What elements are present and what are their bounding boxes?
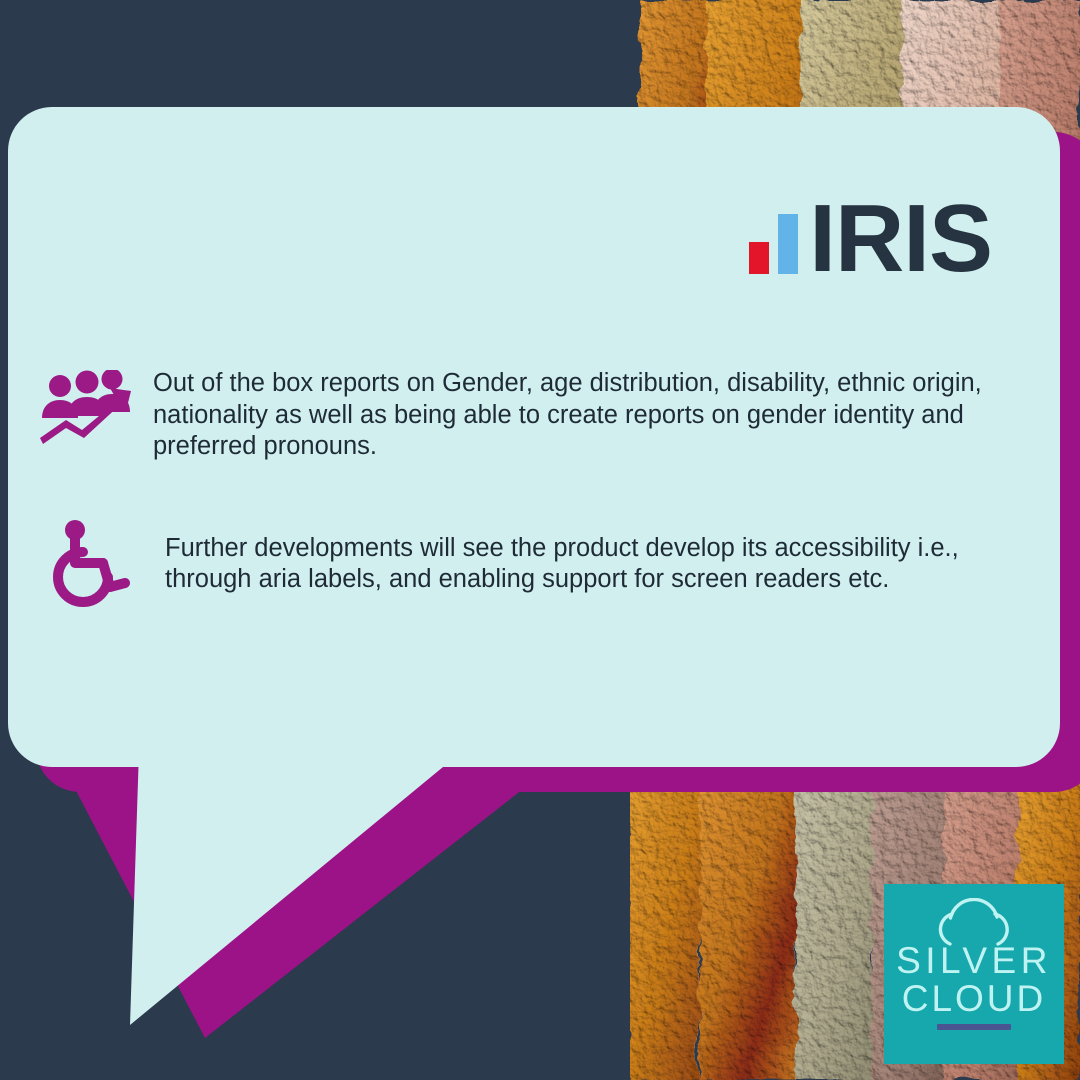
silver-cloud-line2: CLOUD — [884, 980, 1064, 1018]
silver-cloud-logo: SILVER CLOUD — [884, 884, 1064, 1064]
iris-bar-blue-icon — [778, 214, 798, 274]
silver-cloud-underline — [937, 1024, 1011, 1030]
iris-wordmark: IRIS — [809, 201, 992, 278]
poster-canvas: IRIS — [0, 0, 1080, 1080]
iris-logo: IRIS — [749, 192, 992, 278]
wheelchair-glyph — [48, 517, 134, 609]
content-row: Out of the box reports on Gender, age di… — [36, 368, 996, 463]
content-row: Further developments will see the produc… — [36, 515, 996, 609]
wheelchair-head — [65, 520, 85, 540]
silver-cloud-line1: SILVER — [884, 942, 1064, 980]
content-rows: Out of the box reports on Gender, age di… — [36, 368, 996, 661]
cloud-outline-icon — [916, 898, 1032, 946]
iris-bar-red-icon — [749, 242, 769, 274]
content-row-text: Further developments will see the produc… — [165, 515, 996, 596]
wheelchair-accessibility-icon — [36, 515, 165, 609]
iris-logo-bars — [749, 206, 798, 274]
content-row-text: Out of the box reports on Gender, age di… — [153, 368, 993, 463]
people-growth-chart-glyph — [36, 370, 136, 446]
people-growth-chart-icon — [36, 368, 153, 446]
